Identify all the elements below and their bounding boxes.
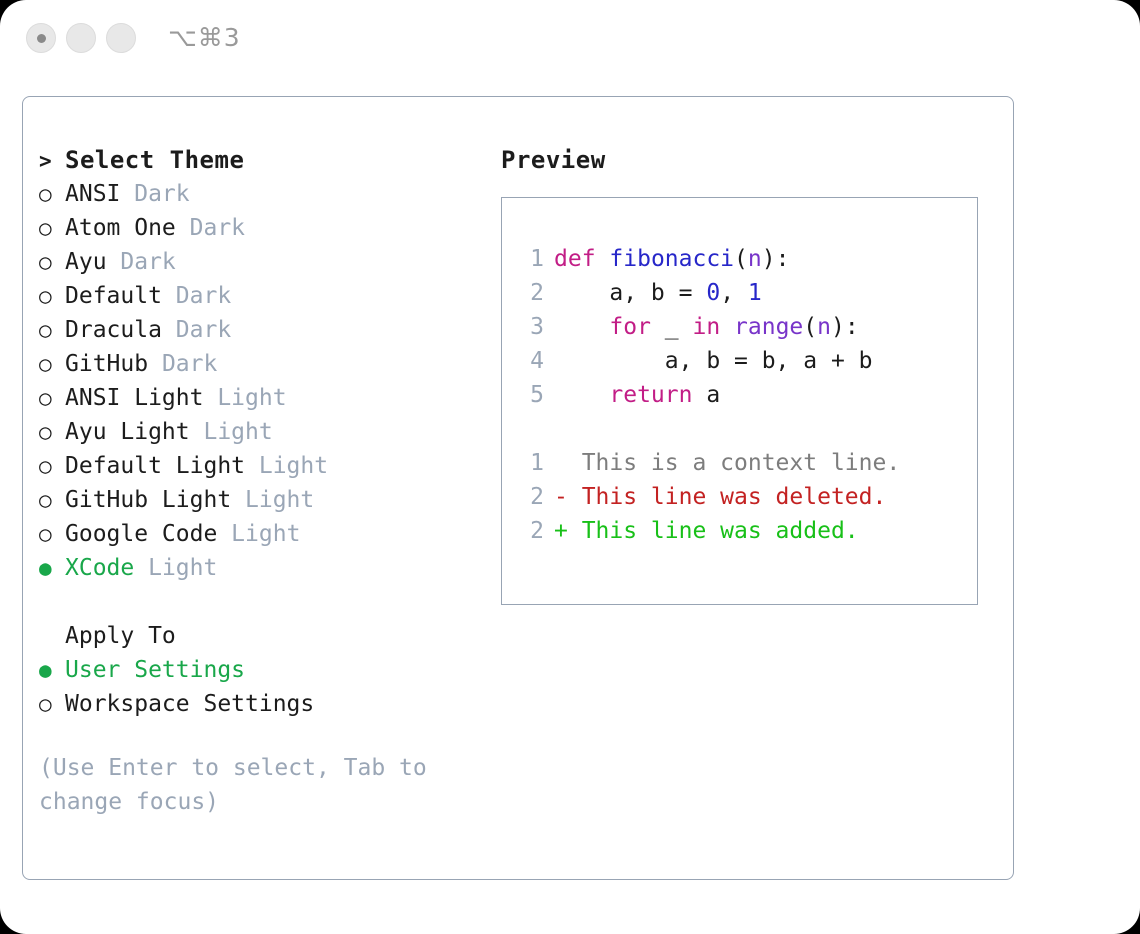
line-number: 2 xyxy=(518,276,544,310)
radio-unselected-icon: ○ xyxy=(39,381,65,415)
theme-name-label: Google Code xyxy=(65,521,217,547)
code-line: 5 return a xyxy=(518,378,977,412)
line-number: 4 xyxy=(518,344,544,378)
theme-variant-label: Dark xyxy=(120,181,189,207)
code-token: a, b = xyxy=(554,280,706,306)
settings-card: >Select Theme ○ANSI Dark○Atom One Dark○A… xyxy=(22,96,1014,880)
apply-to-option[interactable]: ○Workspace Settings xyxy=(39,687,489,721)
theme-list-item[interactable]: ○ANSI Dark xyxy=(39,177,489,211)
radio-unselected-icon: ○ xyxy=(39,687,65,721)
theme-list-item[interactable]: ○Dracula Dark xyxy=(39,313,489,347)
theme-name-label: ANSI xyxy=(65,181,120,207)
window-titlebar: ⌥⌘3 xyxy=(0,0,1140,80)
apply-to-option-label: Workspace Settings xyxy=(65,691,314,717)
code-token: + This line was added. xyxy=(554,518,859,544)
theme-selection-pane: >Select Theme ○ANSI Dark○Atom One Dark○A… xyxy=(39,143,489,819)
code-sample: 1def fibonacci(n):2 a, b = 0, 13 for _ i… xyxy=(518,242,977,412)
apply-to-header-label: Apply To xyxy=(65,623,176,649)
theme-list-header-label: Select Theme xyxy=(65,146,244,174)
apply-to-header-marker-icon: ○ xyxy=(39,619,65,653)
theme-name-label: Ayu Light xyxy=(65,419,190,445)
radio-unselected-icon: ○ xyxy=(39,177,65,211)
theme-name-label: GitHub Light xyxy=(65,487,231,513)
traffic-light-zoom-icon[interactable] xyxy=(106,23,136,53)
theme-variant-label: Dark xyxy=(176,215,245,241)
code-token: ): xyxy=(762,246,790,272)
theme-name-label: ANSI Light xyxy=(65,385,203,411)
code-token: return xyxy=(609,382,692,408)
diff-line: 2+ This line was added. xyxy=(518,514,977,548)
line-number: 1 xyxy=(518,446,544,480)
radio-unselected-icon: ○ xyxy=(39,279,65,313)
keyboard-shortcut-label: ⌥⌘3 xyxy=(168,21,241,55)
theme-list-item[interactable]: ○Google Code Light xyxy=(39,517,489,551)
code-token: n xyxy=(817,314,831,340)
app-window: ⌥⌘3 >Select Theme ○ANSI Dark○Atom One Da… xyxy=(0,0,1140,934)
code-line: 1def fibonacci(n): xyxy=(518,242,977,276)
radio-unselected-icon: ○ xyxy=(39,415,65,449)
line-number: 2 xyxy=(518,514,544,548)
code-line: 3 for _ in range(n): xyxy=(518,310,977,344)
apply-to-header: ○Apply To xyxy=(39,619,489,653)
code-token xyxy=(720,314,734,340)
theme-list-item[interactable]: ○Ayu Light Light xyxy=(39,415,489,449)
code-token: for xyxy=(609,314,651,340)
radio-unselected-icon: ○ xyxy=(39,211,65,245)
line-number: 3 xyxy=(518,310,544,344)
code-token xyxy=(554,382,609,408)
code-blank-line xyxy=(518,412,977,446)
apply-to-list: ●User Settings○Workspace Settings xyxy=(39,653,489,721)
code-token: 1 xyxy=(748,280,762,306)
code-line: 2 a, b = 0, 1 xyxy=(518,276,977,310)
theme-name-label: GitHub xyxy=(65,351,148,377)
theme-variant-label: Light xyxy=(190,419,273,445)
code-token: a xyxy=(692,382,720,408)
theme-list-item[interactable]: ○Atom One Dark xyxy=(39,211,489,245)
code-token: 0 xyxy=(706,280,720,306)
code-token: ( xyxy=(734,246,748,272)
code-token: range xyxy=(734,314,803,340)
theme-variant-label: Light xyxy=(134,555,217,581)
theme-name-label: Dracula xyxy=(65,317,162,343)
theme-list: ○ANSI Dark○Atom One Dark○Ayu Dark○Defaul… xyxy=(39,177,489,585)
section-spacer xyxy=(39,585,489,619)
theme-variant-label: Light xyxy=(231,487,314,513)
line-number: 5 xyxy=(518,378,544,412)
code-token xyxy=(596,246,610,272)
theme-variant-label: Dark xyxy=(148,351,217,377)
traffic-light-minimize-icon[interactable] xyxy=(66,23,96,53)
preview-box: 1def fibonacci(n):2 a, b = 0, 13 for _ i… xyxy=(501,197,978,605)
code-token: - This line was deleted. xyxy=(554,484,886,510)
prompt-caret-icon: > xyxy=(39,144,65,178)
theme-name-label: Ayu xyxy=(65,249,107,275)
theme-list-item[interactable]: ○Ayu Dark xyxy=(39,245,489,279)
theme-list-item[interactable]: ●XCode Light xyxy=(39,551,489,585)
line-number: 1 xyxy=(518,242,544,276)
preview-title: Preview xyxy=(501,143,1001,177)
radio-unselected-icon: ○ xyxy=(39,347,65,381)
code-token: ): xyxy=(831,314,859,340)
diff-sample: 1 This is a context line.2- This line wa… xyxy=(518,446,977,548)
radio-selected-icon: ● xyxy=(39,653,65,687)
theme-name-label: Default xyxy=(65,283,162,309)
apply-to-option[interactable]: ●User Settings xyxy=(39,653,489,687)
radio-unselected-icon: ○ xyxy=(39,449,65,483)
radio-unselected-icon: ○ xyxy=(39,483,65,517)
traffic-light-close-dot-icon xyxy=(37,34,46,43)
code-token: , xyxy=(720,280,748,306)
radio-unselected-icon: ○ xyxy=(39,313,65,347)
code-token: in xyxy=(692,314,720,340)
theme-list-item[interactable]: ○GitHub Light Light xyxy=(39,483,489,517)
apply-to-option-label: User Settings xyxy=(65,657,245,683)
preview-pane: Preview 1def fibonacci(n):2 a, b = 0, 13… xyxy=(501,143,1001,605)
code-token: _ xyxy=(651,314,693,340)
diff-line: 2- This line was deleted. xyxy=(518,480,977,514)
theme-variant-label: Dark xyxy=(107,249,176,275)
theme-variant-label: Light xyxy=(245,453,328,479)
theme-variant-label: Dark xyxy=(162,317,231,343)
theme-name-label: Atom One xyxy=(65,215,176,241)
code-token: This is a context line. xyxy=(554,450,900,476)
theme-list-item[interactable]: ○GitHub Dark xyxy=(39,347,489,381)
code-token: n xyxy=(748,246,762,272)
code-token xyxy=(554,314,609,340)
theme-list-item[interactable]: ○ANSI Light Light xyxy=(39,381,489,415)
diff-line: 1 This is a context line. xyxy=(518,446,977,480)
line-number: 2 xyxy=(518,480,544,514)
code-line: 4 a, b = b, a + b xyxy=(518,344,977,378)
theme-list-item[interactable]: ○Default Light Light xyxy=(39,449,489,483)
theme-name-label: XCode xyxy=(65,555,134,581)
theme-list-item[interactable]: ○Default Dark xyxy=(39,279,489,313)
radio-unselected-icon: ○ xyxy=(39,517,65,551)
code-token: a, b = b, a + b xyxy=(554,348,873,374)
code-token: def xyxy=(554,246,596,272)
theme-name-label: Default Light xyxy=(65,453,245,479)
code-token: ( xyxy=(803,314,817,340)
theme-list-header: >Select Theme xyxy=(39,143,489,177)
code-token: fibonacci xyxy=(609,246,734,272)
radio-selected-icon: ● xyxy=(39,551,65,585)
theme-variant-label: Dark xyxy=(162,283,231,309)
keyboard-hint-text: (Use Enter to select, Tab to change focu… xyxy=(39,751,449,819)
radio-unselected-icon: ○ xyxy=(39,245,65,279)
theme-variant-label: Light xyxy=(217,521,300,547)
theme-variant-label: Light xyxy=(203,385,286,411)
